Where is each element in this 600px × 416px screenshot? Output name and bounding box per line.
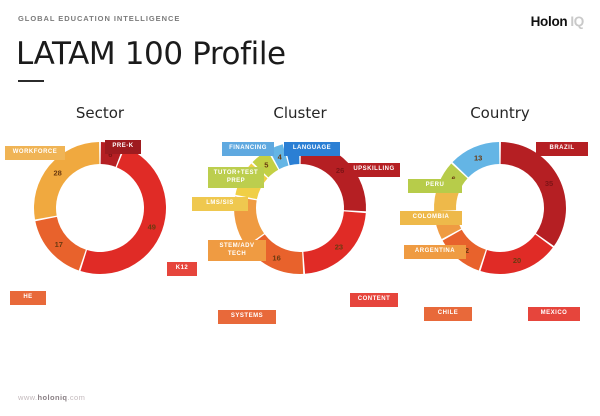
title-underline	[18, 80, 44, 82]
slice-value: 28	[53, 169, 61, 178]
chart-title-cluster: Cluster	[200, 104, 400, 122]
chart-title-country: Country	[400, 104, 600, 122]
label-he[interactable]: HE	[10, 291, 46, 305]
label-chile[interactable]: CHILE	[424, 307, 472, 321]
chart-panel-sector: Sector 6491728 WORKFORCE PRE-K K12 HE	[0, 104, 200, 394]
brand-logo: HolonIQ	[531, 14, 584, 29]
label-colombia[interactable]: COLOMBIA	[400, 211, 462, 225]
label-k12[interactable]: K12	[167, 262, 197, 276]
label-tutor-test-prep[interactable]: TUTOR+TEST PREP	[208, 167, 264, 188]
slice-value: 20	[513, 256, 521, 265]
slice-value: 5	[264, 160, 268, 169]
logo-word: Holon	[531, 14, 568, 29]
slice-value: 26	[336, 166, 344, 175]
chart-title-sector: Sector	[0, 104, 200, 122]
footer-brand: holoniq	[38, 393, 68, 402]
label-systems[interactable]: SYSTEMS	[218, 310, 276, 324]
label-language[interactable]: LANGUAGE	[284, 142, 340, 156]
kicker-text: GLOBAL EDUCATION INTELLIGENCE	[18, 14, 180, 23]
label-content[interactable]: CONTENT	[350, 293, 398, 307]
footer-suffix: .com	[67, 393, 85, 402]
label-workforce[interactable]: WORKFORCE	[5, 146, 65, 160]
label-peru[interactable]: PERU	[408, 179, 462, 193]
label-lms-sis[interactable]: LMS/SIS	[192, 197, 248, 211]
footer-url[interactable]: www.holoniq.com	[18, 393, 85, 402]
slice-value: 17	[55, 240, 63, 249]
label-mexico[interactable]: MEXICO	[528, 307, 580, 321]
footer-prefix: www.	[18, 393, 38, 402]
slide-canvas: GLOBAL EDUCATION INTELLIGENCE LATAM 100 …	[0, 0, 600, 416]
label-brazil[interactable]: BRAZIL	[536, 142, 588, 156]
slice-value: 16	[272, 254, 280, 263]
label-stem-adv-tech[interactable]: STEM/ADV TECH	[208, 240, 266, 261]
donut-slice[interactable]	[480, 234, 552, 274]
label-pre-k[interactable]: PRE-K	[105, 140, 141, 154]
donut-slice[interactable]	[501, 142, 566, 246]
label-upskilling[interactable]: UPSKILLING	[348, 163, 400, 177]
chart-panel-cluster: Cluster 2623169544 FINANCING LANGUAGE TU…	[200, 104, 400, 394]
label-argentina[interactable]: ARGENTINA	[404, 245, 466, 259]
slice-value: 35	[545, 179, 553, 188]
slice-value: 49	[148, 222, 156, 231]
chart-panel-country: Country 352012613 BRAZIL PERU COLOMBIA A…	[400, 104, 600, 394]
slice-value: 23	[335, 243, 343, 252]
logo-iq: IQ	[570, 14, 584, 29]
page-title: LATAM 100 Profile	[16, 36, 286, 72]
slice-value: 13	[474, 153, 482, 162]
donut-slice[interactable]	[80, 147, 166, 274]
label-financing[interactable]: FINANCING	[222, 142, 274, 156]
